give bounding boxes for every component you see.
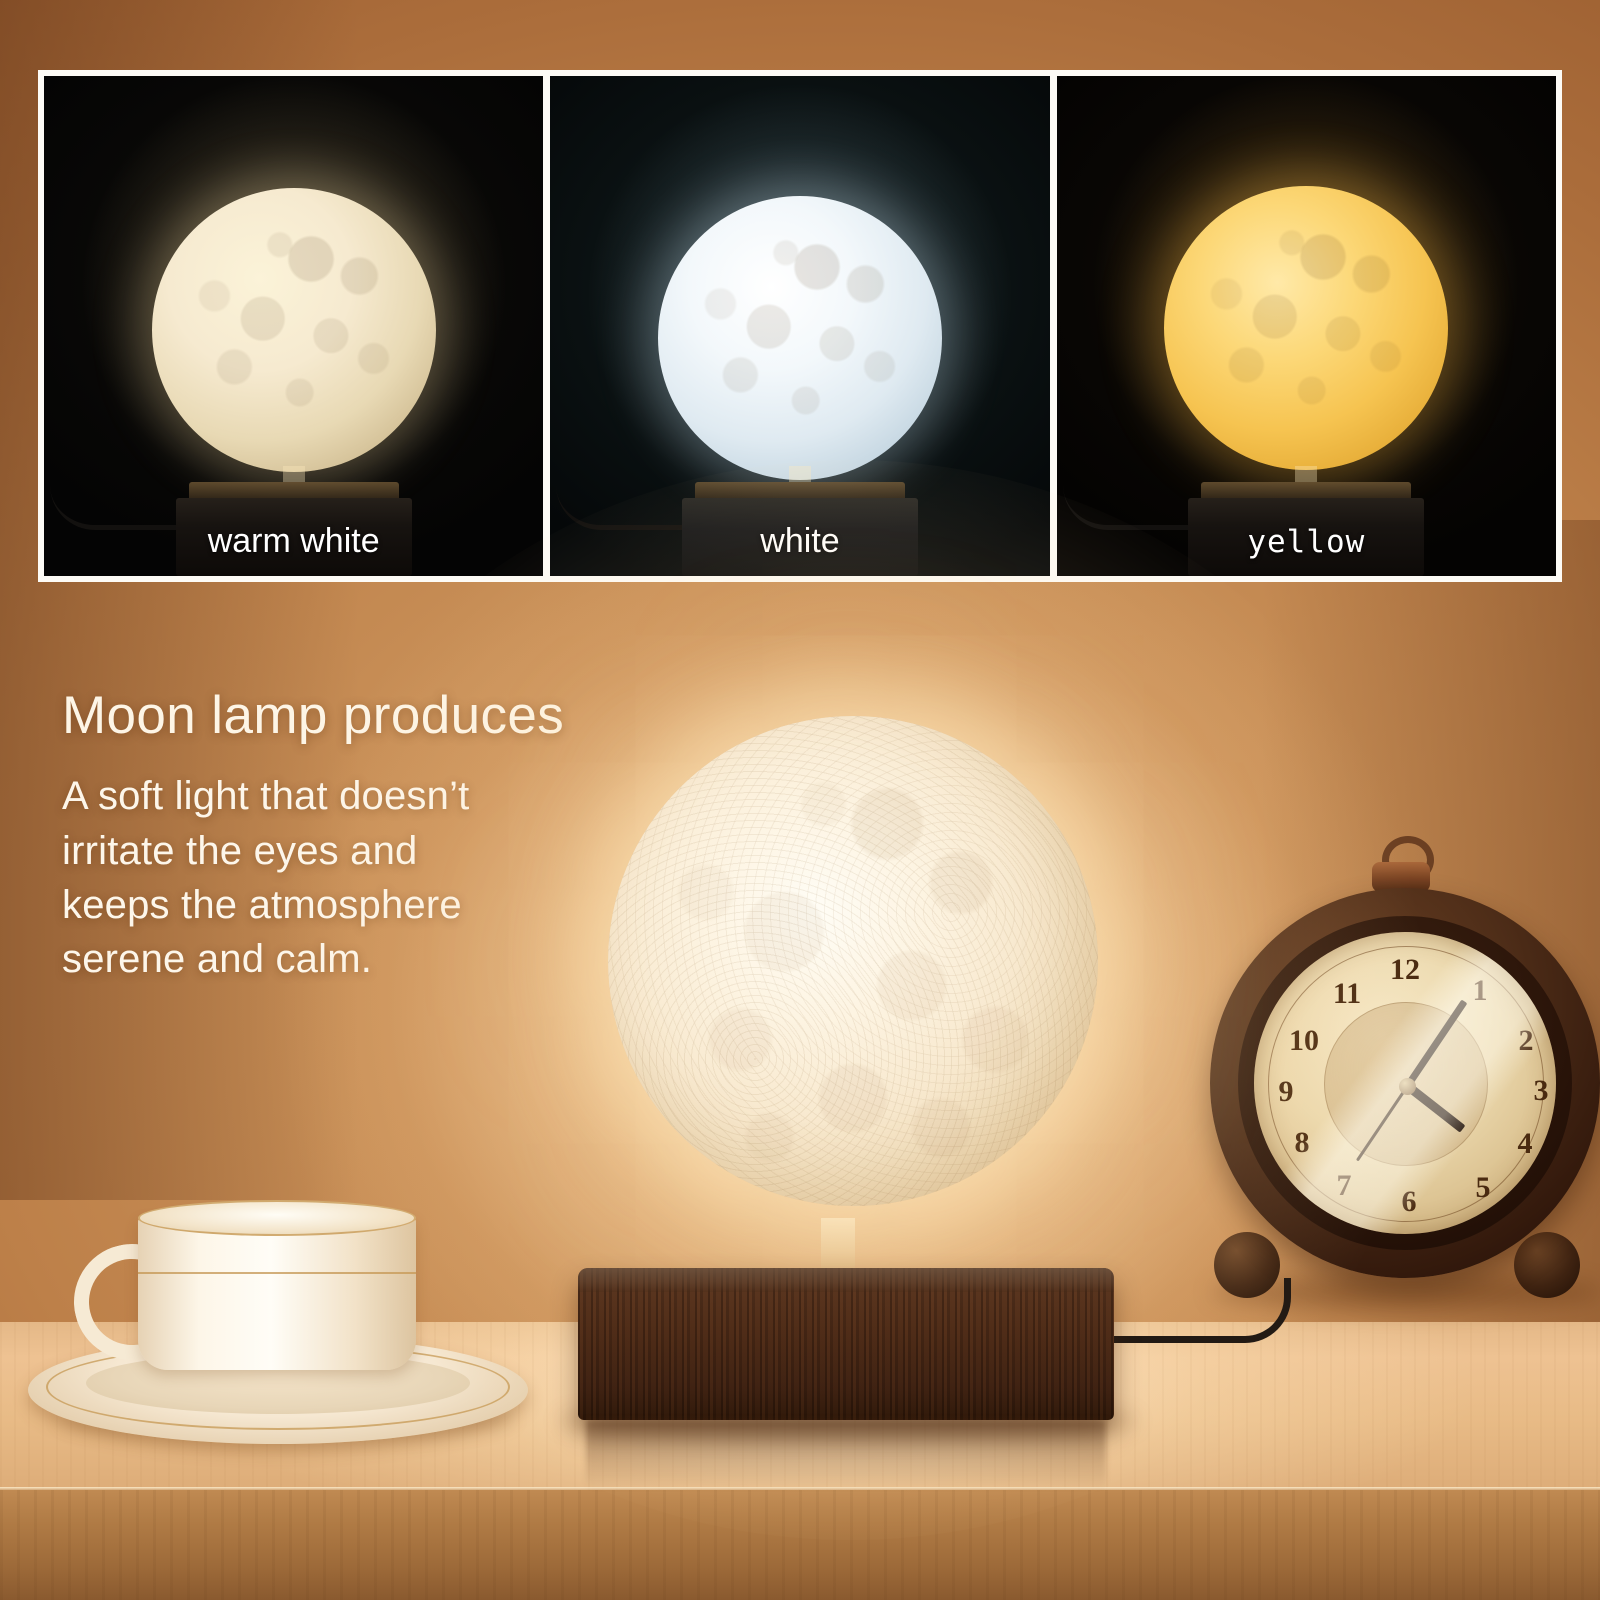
- lamp-base-reflection: [586, 1420, 1106, 1490]
- swatch-label-warm-white: warm white: [44, 524, 543, 558]
- levitation-stem: [283, 466, 305, 482]
- lamp-base-top: [695, 482, 905, 498]
- lamp-wooden-base: [578, 1268, 1114, 1420]
- lamp-base-top: [1201, 482, 1411, 498]
- clock-numeral-11: 11: [1333, 979, 1361, 1009]
- table-front-face: [0, 1490, 1600, 1600]
- clock-numeral-4: 4: [1518, 1129, 1533, 1159]
- levitation-stem: [821, 1218, 855, 1270]
- moon-globe-yellow: [1164, 186, 1448, 470]
- clock-foot-right: [1514, 1232, 1580, 1298]
- levitation-stem: [1295, 466, 1317, 482]
- clock-numeral-9: 9: [1279, 1077, 1294, 1107]
- vintage-alarm-clock: 12 1 2 3 4 5 6 7 8 9 10 11: [1196, 836, 1600, 1348]
- clock-numeral-3: 3: [1534, 1076, 1549, 1106]
- teacup: [138, 1216, 416, 1370]
- moon-surface-texture: [608, 716, 1098, 1206]
- swatch-label-white: white: [550, 524, 1049, 558]
- moon-craters: [658, 196, 942, 480]
- swatch-label-yellow: yellow: [1057, 527, 1556, 558]
- body-line-1: A soft light that doesn’t: [62, 769, 742, 823]
- clock-numeral-7: 7: [1337, 1171, 1352, 1201]
- clock-numeral-2: 2: [1519, 1026, 1534, 1056]
- lamp-base-top-face: [578, 1268, 1114, 1292]
- clock-numeral-6: 6: [1402, 1187, 1417, 1217]
- clock-numeral-1: 1: [1473, 976, 1488, 1006]
- swatch-panel-yellow[interactable]: yellow: [1057, 76, 1556, 576]
- power-cord: [1104, 1278, 1291, 1343]
- teacup-rim: [138, 1200, 416, 1236]
- moon-globe-main: [608, 716, 1098, 1206]
- lamp-base-top: [189, 482, 399, 498]
- moon-globe-warm-white: [152, 188, 436, 472]
- color-swatch-panel-strip: warm white white yellow: [38, 70, 1562, 582]
- clock-numeral-5: 5: [1476, 1173, 1491, 1203]
- headline: Moon lamp produces: [62, 688, 742, 743]
- clock-center-pin: [1399, 1078, 1416, 1095]
- product-marketing-image: warm white white yellow: [0, 0, 1600, 1600]
- moon-craters: [152, 188, 436, 472]
- moon-craters: [1164, 186, 1448, 470]
- swatch-panel-warm-white[interactable]: warm white: [44, 76, 543, 576]
- moon-globe-white: [658, 196, 942, 480]
- swatch-panel-white[interactable]: white: [550, 76, 1049, 576]
- clock-numeral-12: 12: [1390, 955, 1420, 985]
- clock-numeral-8: 8: [1295, 1128, 1310, 1158]
- levitation-stem: [789, 466, 811, 482]
- teacup-gold-band: [138, 1272, 416, 1274]
- clock-numeral-10: 10: [1289, 1026, 1319, 1056]
